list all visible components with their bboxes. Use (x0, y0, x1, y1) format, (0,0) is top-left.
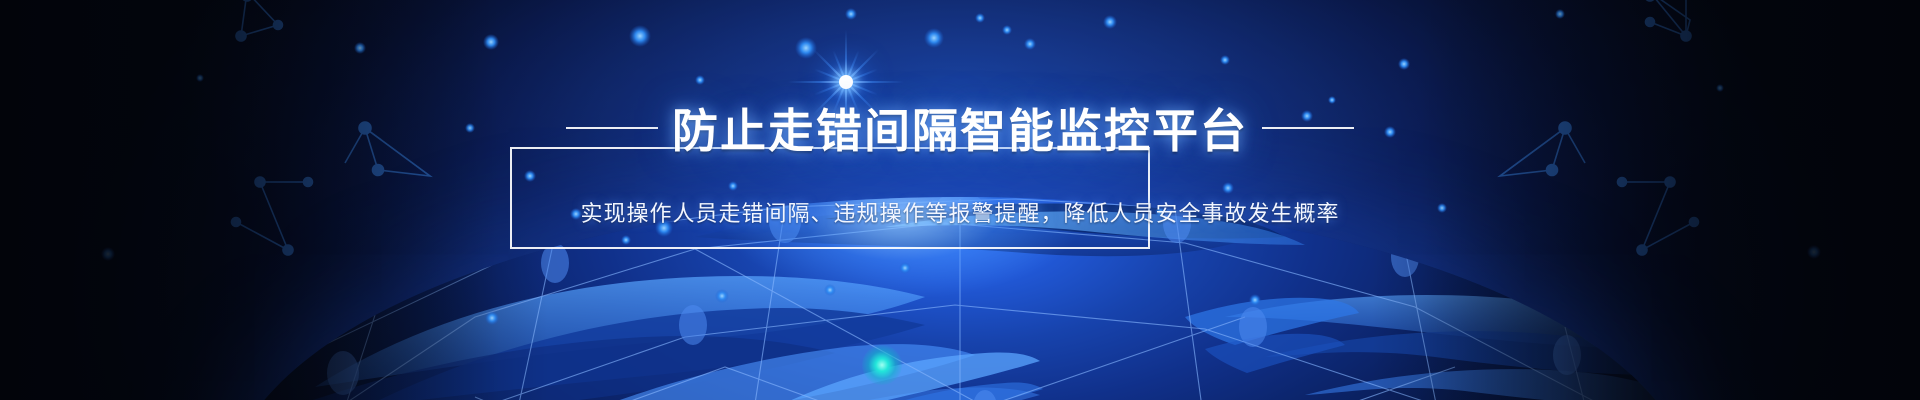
hero-banner: 防止走错间隔智能监控平台 实现操作人员走错间隔、违规操作等报警提醒，降低人员安全… (0, 0, 1920, 400)
title-row: 防止走错间隔智能监控平台 (0, 95, 1920, 161)
title-rule-left (566, 127, 658, 129)
title-rule-right (1262, 127, 1354, 129)
page-title: 防止走错间隔智能监控平台 (672, 95, 1248, 161)
page-subtitle: 实现操作人员走错间隔、违规操作等报警提醒，降低人员安全事故发生概率 (0, 196, 1920, 228)
